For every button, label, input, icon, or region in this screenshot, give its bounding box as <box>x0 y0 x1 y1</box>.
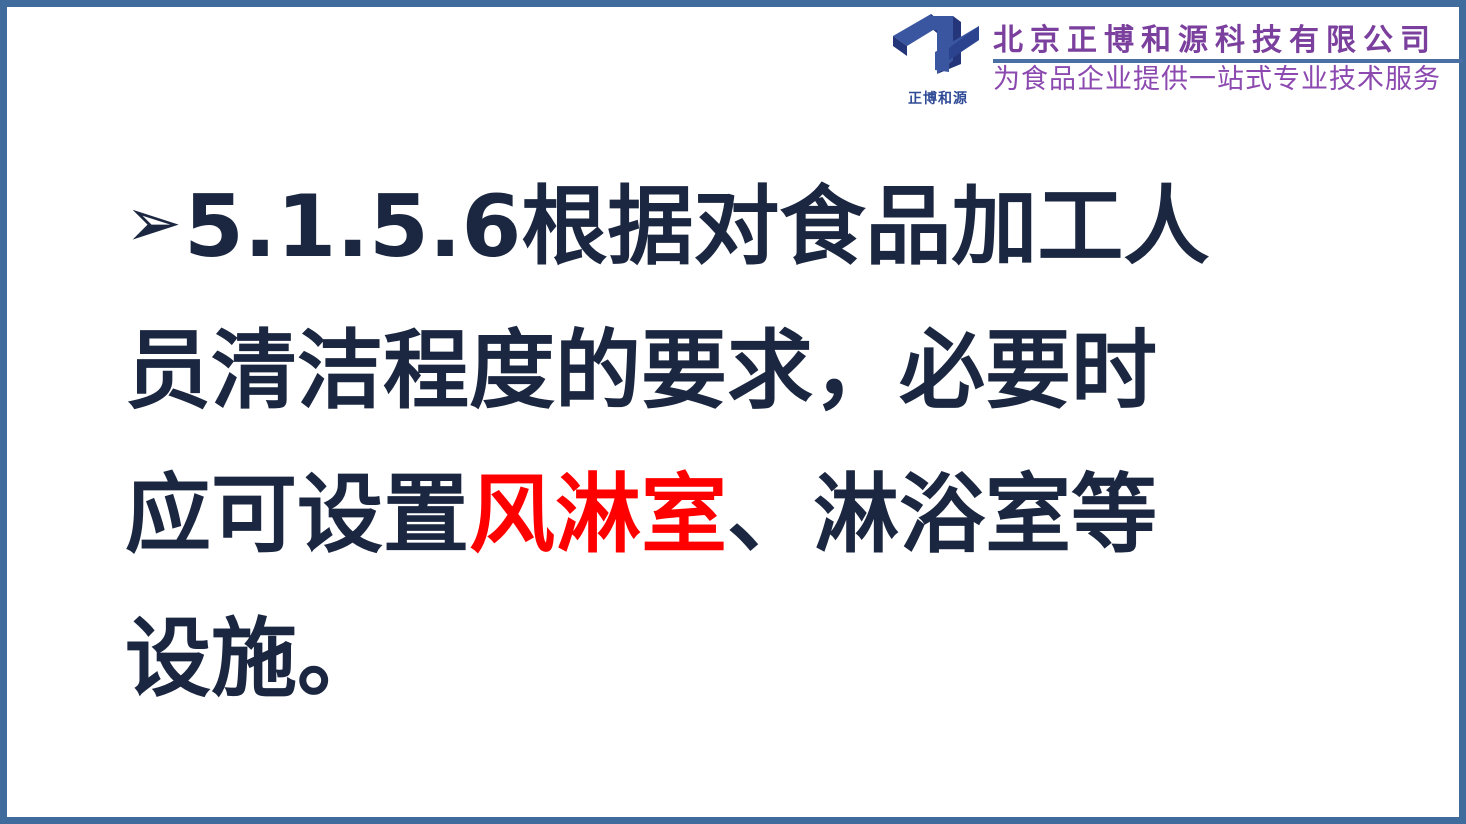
bullet-arrow-icon: ➢ <box>125 184 182 263</box>
body-line-2: 员清洁程度的要求，必要时 <box>125 299 1419 443</box>
company-name: 北京正博和源科技有限公司 <box>987 25 1463 57</box>
logo-wordmark: 正博和源 <box>893 92 983 106</box>
slide-body: ➢5.1.5.6根据对食品加工人 员清洁程度的要求，必要时 应可设置风淋室、淋浴… <box>125 155 1419 731</box>
body-line-4: 设施。 <box>125 587 1419 731</box>
company-slogan: 为食品企业提供一站式专业技术服务 <box>987 65 1463 95</box>
body-line-1: ➢5.1.5.6根据对食品加工人 <box>125 155 1419 299</box>
zhengbo-heyuan-z-logo-icon <box>891 12 983 84</box>
body-line-3-text-b: 、淋浴室等 <box>727 465 1157 565</box>
company-header: 正博和源 北京正博和源科技有限公司 为食品企业提供一站式专业技术服务 <box>879 7 1459 111</box>
slide-canvas: 正博和源 北京正博和源科技有限公司 为食品企业提供一站式专业技术服务 ➢5.1.… <box>0 0 1466 824</box>
body-line-4-text: 设施。 <box>125 609 383 709</box>
body-line-2-text: 员清洁程度的要求，必要时 <box>125 321 1157 421</box>
company-logo: 正博和源 <box>887 10 987 108</box>
highlight-term-fenglinshi: 风淋室 <box>469 465 727 565</box>
body-line-1-text: 5.1.5.6根据对食品加工人 <box>184 177 1209 277</box>
body-line-3: 应可设置风淋室、淋浴室等 <box>125 443 1419 587</box>
header-text-block: 北京正博和源科技有限公司 为食品企业提供一站式专业技术服务 <box>987 23 1463 95</box>
body-line-3-text-a: 应可设置 <box>125 465 469 565</box>
header-divider <box>993 59 1463 63</box>
